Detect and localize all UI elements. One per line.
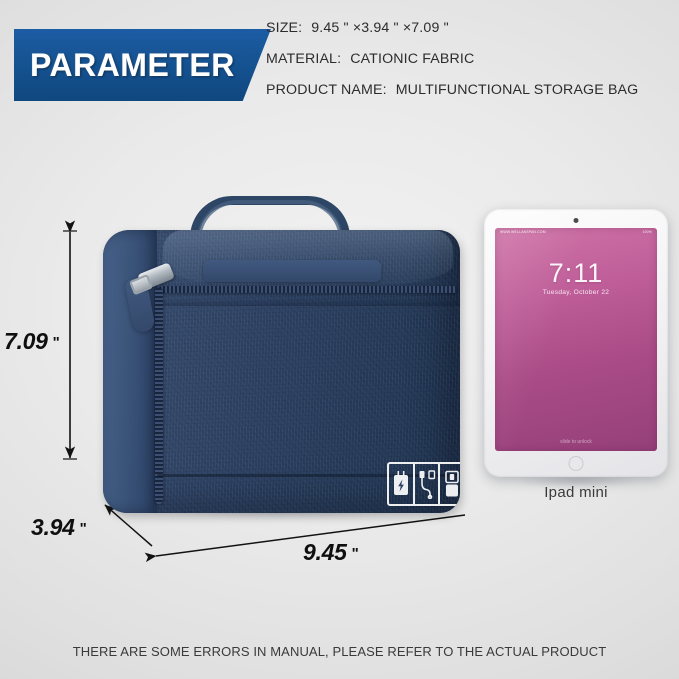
cable-icon-glyph bbox=[417, 469, 437, 499]
ipad-battery-text: 100% bbox=[643, 230, 652, 234]
ipad-screen: WWW.WELLANSPAN.COM 100% 7:11 Tuesday, Oc… bbox=[495, 228, 657, 451]
ipad-lockscreen-date: Tuesday, October 22 bbox=[495, 289, 657, 296]
bag-body bbox=[103, 230, 460, 513]
ipad-front-camera bbox=[574, 218, 579, 223]
parameter-banner-label: PARAMETER bbox=[14, 47, 235, 84]
ipad-status-bar: WWW.WELLANSPAN.COM 100% bbox=[495, 230, 657, 234]
ipad-lockscreen-time: 7:11 bbox=[495, 258, 657, 289]
spec-value-size: 9.45 " ×3.94 " ×7.09 " bbox=[311, 20, 449, 36]
ipad-caption: Ipad mini bbox=[484, 484, 668, 501]
bag-side-zipper bbox=[155, 288, 163, 504]
ipad-mini-image: WWW.WELLANSPAN.COM 100% 7:11 Tuesday, Oc… bbox=[484, 209, 668, 477]
dimension-label-depth: 3.94" bbox=[31, 514, 87, 541]
spec-row-product-name: PRODUCT NAME: MULTIFUNCTIONAL STORAGE BA… bbox=[266, 82, 678, 113]
dimension-depth-number: 3.94 bbox=[31, 514, 75, 540]
spec-label-size: SIZE: bbox=[266, 20, 302, 36]
storage-bag-image bbox=[85, 196, 460, 516]
spec-value-product-name: MULTIFUNCTIONAL STORAGE BAG bbox=[396, 82, 639, 98]
dimension-depth-unit: " bbox=[80, 520, 87, 537]
spec-row-size: SIZE: 9.45 " ×3.94 " ×7.09 " bbox=[266, 20, 678, 51]
parameter-banner: PARAMETER bbox=[14, 29, 271, 101]
dimension-width-number: 9.45 bbox=[303, 539, 347, 565]
spec-row-material: MATERIAL: CATIONIC FABRIC bbox=[266, 51, 678, 82]
dimension-label-height: 7.09" bbox=[4, 328, 60, 355]
charger-icon bbox=[389, 464, 415, 504]
dimension-label-width: 9.45" bbox=[303, 539, 359, 566]
bag-handle-strap bbox=[203, 260, 381, 282]
ipad-carrier-text: WWW.WELLANSPAN.COM bbox=[500, 230, 546, 234]
dimension-height-number: 7.09 bbox=[4, 328, 48, 354]
spec-label-material: MATERIAL: bbox=[266, 51, 341, 67]
product-parameter-infographic: PARAMETER SIZE: 9.45 " ×3.94 " ×7.09 " M… bbox=[0, 0, 679, 679]
footer-disclaimer: THERE ARE SOME ERRORS IN MANUAL, PLEASE … bbox=[0, 644, 679, 659]
cable-icon bbox=[415, 464, 441, 504]
bag-top-zipper bbox=[159, 286, 457, 293]
dimension-width-unit: " bbox=[352, 545, 359, 562]
charger-icon-glyph bbox=[392, 470, 410, 498]
ipad-home-button bbox=[569, 456, 584, 471]
spec-label-product-name: PRODUCT NAME: bbox=[266, 82, 387, 98]
power-bank-icon bbox=[440, 464, 460, 504]
spec-list: SIZE: 9.45 " ×3.94 " ×7.09 " MATERIAL: C… bbox=[266, 20, 678, 113]
bag-logo-icon-box bbox=[387, 462, 460, 506]
power-bank-icon-glyph bbox=[443, 470, 460, 498]
header: PARAMETER SIZE: 9.45 " ×3.94 " ×7.09 " M… bbox=[0, 0, 679, 130]
dimension-height-unit: " bbox=[53, 334, 60, 351]
spec-value-material: CATIONIC FABRIC bbox=[350, 51, 474, 67]
ipad-slide-to-unlock: slide to unlock bbox=[495, 439, 657, 445]
